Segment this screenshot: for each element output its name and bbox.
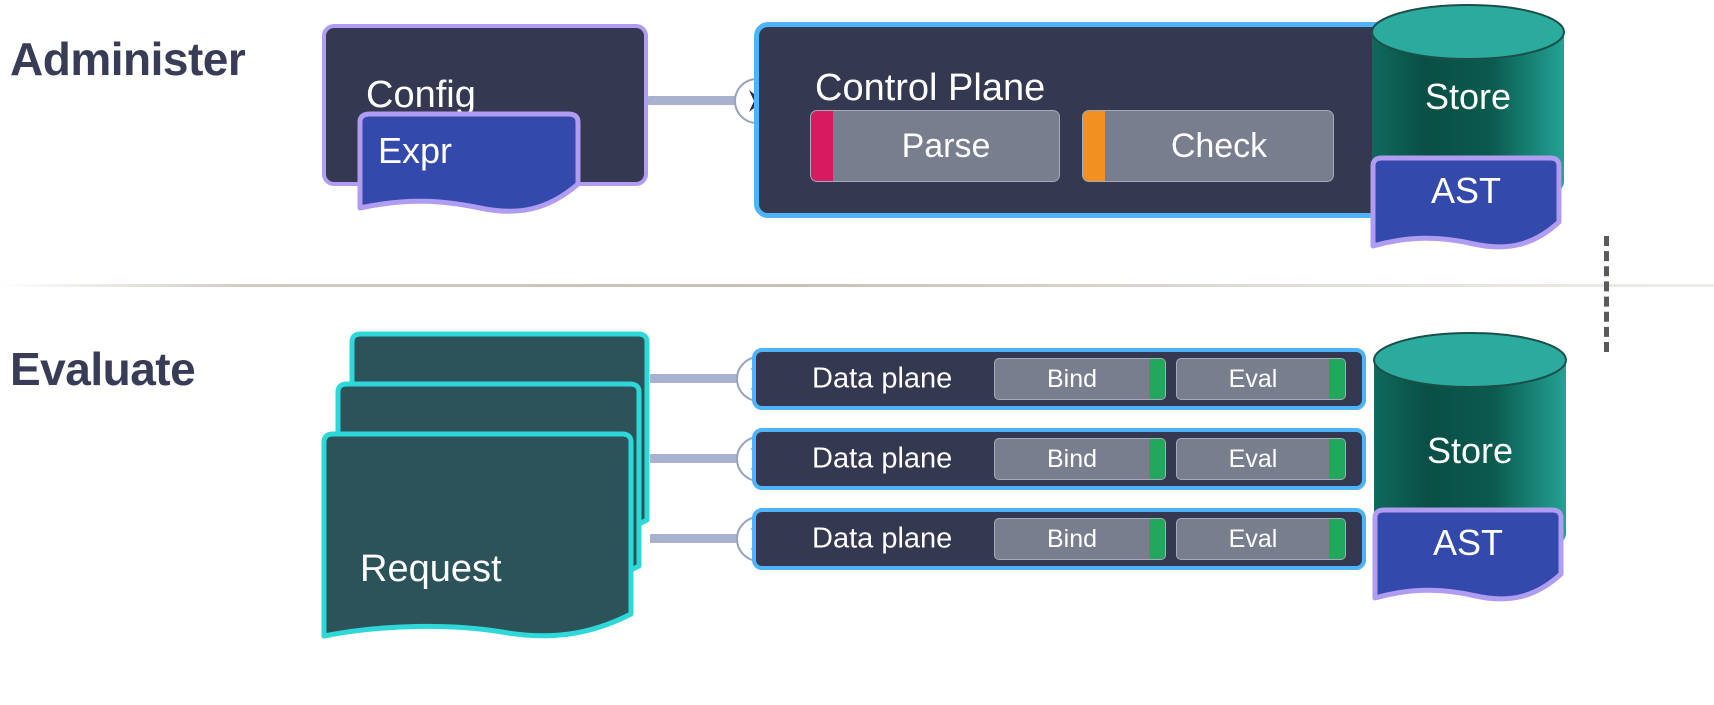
request-stack[interactable]: Request [318,330,658,630]
stage-accent-eval [1329,519,1345,559]
data-plane-row[interactable]: Data plane Bind Eval [752,508,1366,570]
section-label-administer: Administer [10,32,245,86]
stage-accent-parse [811,111,833,181]
expr-document[interactable]: Expr [352,112,586,216]
data-plane-row[interactable]: Data plane Bind Eval [752,428,1366,490]
stage-accent-bind [1149,519,1165,559]
stage-eval-label: Eval [1177,365,1329,394]
store-link-dashed [1604,236,1609,352]
connector-request-to-data-plane-0 [650,374,742,383]
section-divider [0,284,1714,287]
stage-accent-eval [1329,439,1345,479]
data-plane-title: Data plane [812,443,952,476]
ast-document-evaluate[interactable]: AST [1370,506,1566,604]
data-plane-row[interactable]: Data plane Bind Eval [752,348,1366,410]
stage-check[interactable]: Check [1082,110,1334,182]
connector-request-to-data-plane-1 [650,454,742,463]
stage-eval-label: Eval [1177,445,1329,474]
ast-document-administer[interactable]: AST [1368,154,1564,252]
diagram-canvas: Administer Evaluate Config Expr Control … [0,0,1714,705]
control-plane-title: Control Plane [815,67,1045,110]
stage-accent-bind [1149,439,1165,479]
stage-eval[interactable]: Eval [1176,518,1346,560]
stage-check-label: Check [1105,127,1333,166]
stage-eval-label: Eval [1177,525,1329,554]
stage-bind-label: Bind [995,365,1149,394]
stage-accent-eval [1329,359,1345,399]
stage-eval[interactable]: Eval [1176,438,1346,480]
stage-bind[interactable]: Bind [994,518,1166,560]
data-plane-title: Data plane [812,523,952,556]
stage-parse-label: Parse [833,127,1059,166]
stage-bind-label: Bind [995,525,1149,554]
config-title: Config [366,74,476,117]
data-plane-title: Data plane [812,363,952,396]
stage-bind-label: Bind [995,445,1149,474]
stage-bind[interactable]: Bind [994,438,1166,480]
section-label-evaluate: Evaluate [10,342,195,396]
stage-bind[interactable]: Bind [994,358,1166,400]
stage-parse[interactable]: Parse [810,110,1060,182]
connector-request-to-data-plane-2 [650,534,742,543]
stage-accent-bind [1149,359,1165,399]
stage-accent-check [1083,111,1105,181]
stage-eval[interactable]: Eval [1176,358,1346,400]
connector-config-to-control-plane [648,96,744,105]
